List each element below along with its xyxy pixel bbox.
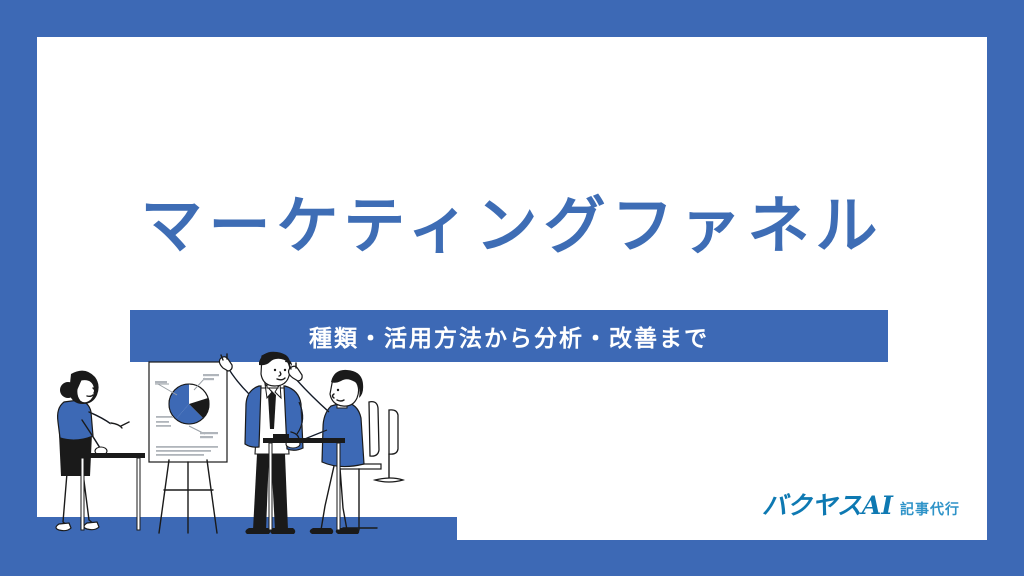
subtitle-text: 種類・活用方法から分析・改善まで bbox=[309, 319, 709, 353]
slide-white-card: マーケティングファネル 種類・活用方法から分析・改善まで バクヤスAI 記事代行… bbox=[37, 37, 987, 540]
title-block: マーケティングファネル bbox=[37, 192, 987, 260]
figure-woman-pointing bbox=[56, 371, 129, 531]
slide-root: マーケティングファネル 種類・活用方法から分析・改善まで バクヤスAI 記事代行… bbox=[0, 0, 1024, 576]
easel-poster-pie-chart bbox=[149, 362, 227, 533]
brand-logo-name: バクヤスAI bbox=[762, 486, 893, 522]
brand-logo: バクヤスAI 記事代行 bbox=[762, 486, 960, 522]
page-title: マーケティングファネル bbox=[37, 192, 987, 260]
illustration-svg: .ink { fill:none; stroke:#1A1A1A; stroke… bbox=[37, 350, 457, 540]
illustration-business-team: .ink { fill:none; stroke:#1A1A1A; stroke… bbox=[37, 350, 457, 540]
brand-logo-service: 記事代行 bbox=[900, 499, 960, 519]
